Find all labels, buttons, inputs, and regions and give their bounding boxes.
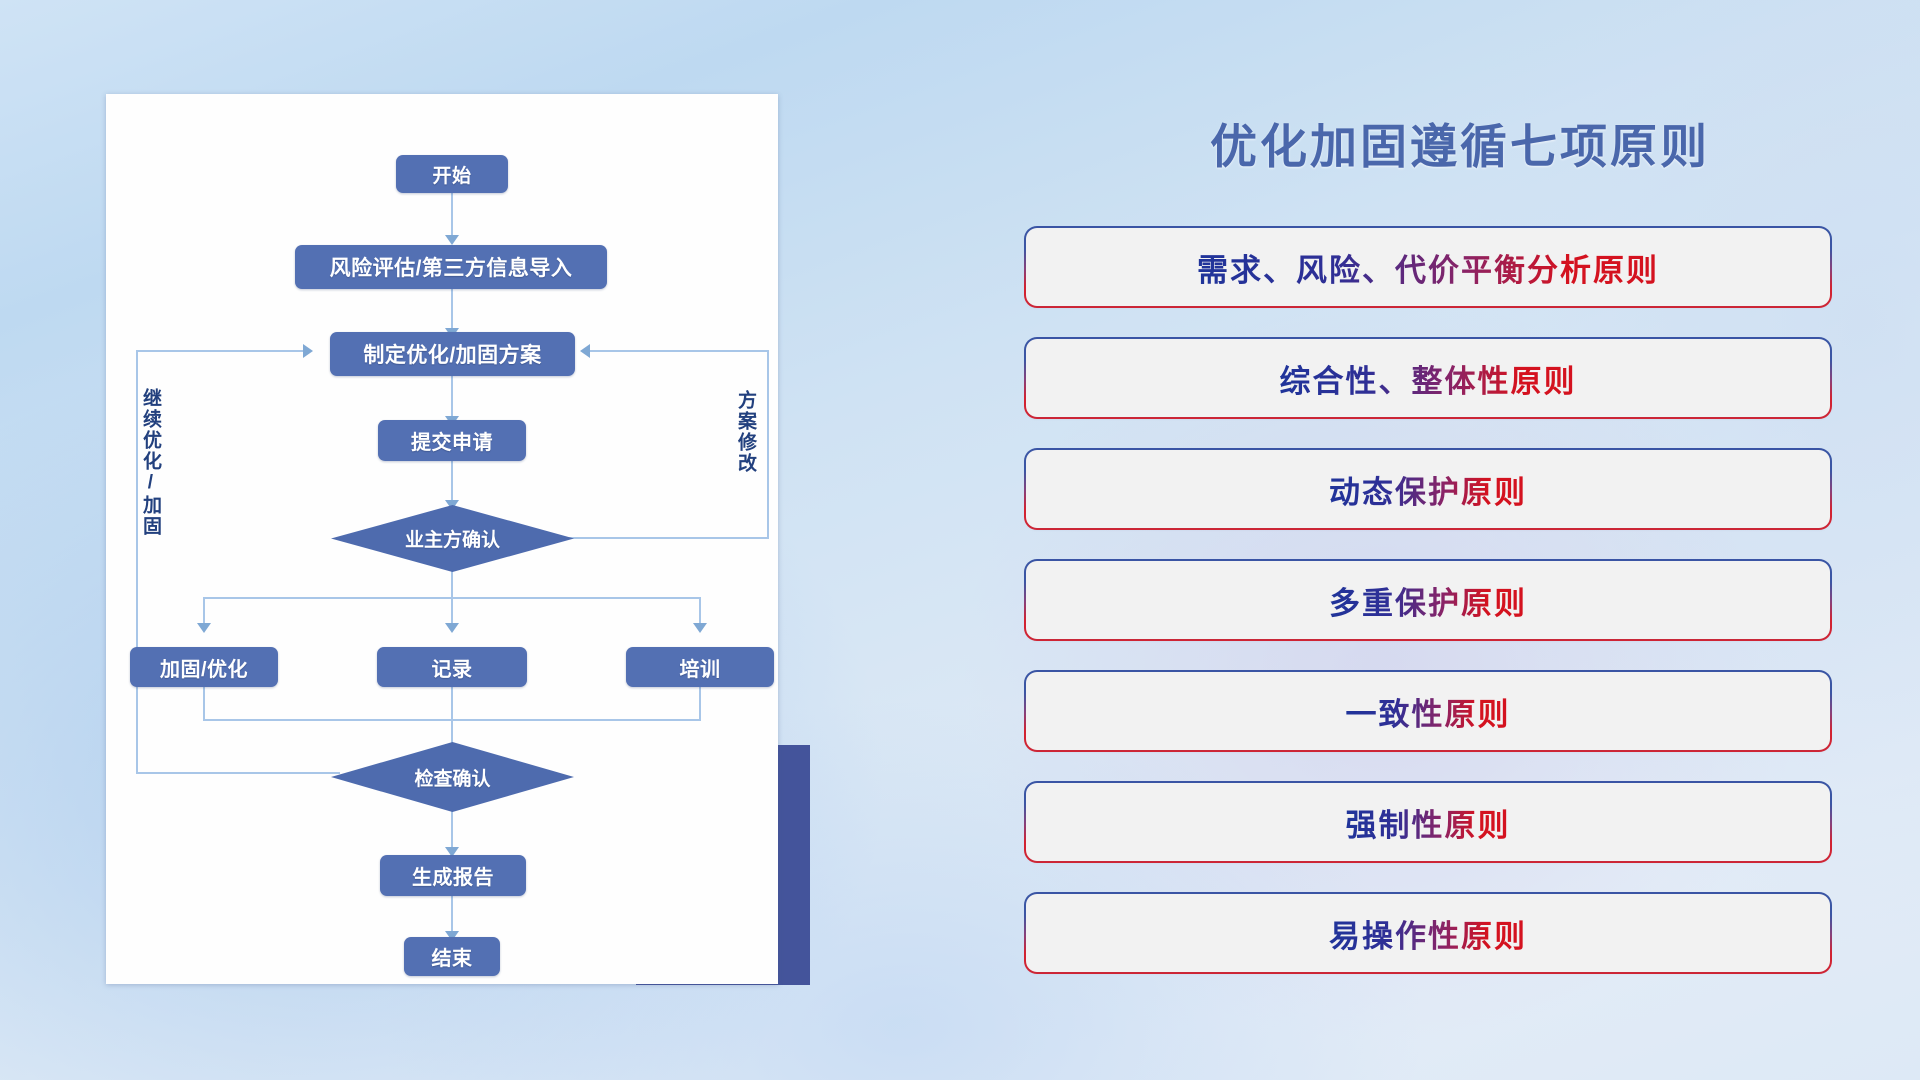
- connector-risk-plan: [451, 288, 453, 333]
- arrow-to-training: [693, 623, 707, 633]
- arrow-start-risk: [445, 235, 459, 245]
- arrow-right-into-plan: [580, 344, 590, 358]
- connector-left-to-plan: [136, 350, 307, 352]
- principle-label: 需求、风险、代价平衡分析原则: [1197, 245, 1659, 290]
- connector-submit-owner: [451, 460, 453, 505]
- flow-node-record[interactable]: 记录: [377, 647, 527, 687]
- principle-label: 强制性原则: [1346, 800, 1511, 845]
- flowchart-panel: 开始 风险评估/第三方信息导入 制定优化/加固方案 提交申请 业主方确认 加固/…: [0, 0, 1000, 1080]
- connector-start-risk: [451, 192, 453, 240]
- connector-owner-right: [560, 537, 769, 539]
- flow-node-reinforce[interactable]: 加固/优化: [130, 647, 278, 687]
- connector-right-to-plan: [589, 350, 769, 352]
- flow-node-risk-assessment[interactable]: 风险评估/第三方信息导入: [295, 245, 607, 289]
- principle-label: 多重保护原则: [1329, 578, 1527, 623]
- connector-record-down: [451, 686, 453, 720]
- principle-card[interactable]: 一致性原则: [1026, 672, 1830, 750]
- principle-card[interactable]: 需求、风险、代价平衡分析原则: [1026, 228, 1830, 306]
- connector-training-down: [699, 686, 701, 720]
- principles-list: 需求、风险、代价平衡分析原则 综合性、整体性原则 动态保护原则 多重保护原则 一…: [1026, 228, 1830, 1005]
- principles-panel: 优化加固遵循七项原则 需求、风险、代价平衡分析原则 综合性、整体性原则 动态保护…: [1000, 0, 1920, 1080]
- principle-card[interactable]: 多重保护原则: [1026, 561, 1830, 639]
- flow-node-plan[interactable]: 制定优化/加固方案: [330, 332, 575, 376]
- arrow-to-reinforce: [197, 623, 211, 633]
- principle-card[interactable]: 易操作性原则: [1026, 894, 1830, 972]
- flow-node-submit[interactable]: 提交申请: [378, 420, 526, 461]
- edge-label-continue-optimize: 继续优化/加固: [140, 388, 160, 537]
- connector-plan-submit: [451, 376, 453, 421]
- principle-card[interactable]: 综合性、整体性原则: [1026, 339, 1830, 417]
- connector-report-end: [451, 896, 453, 936]
- flow-node-start[interactable]: 开始: [396, 155, 508, 193]
- flow-node-report[interactable]: 生成报告: [380, 855, 526, 896]
- principle-label: 一致性原则: [1346, 689, 1511, 734]
- principle-label: 易操作性原则: [1329, 911, 1527, 956]
- principle-card[interactable]: 动态保护原则: [1026, 450, 1830, 528]
- arrow-left-into-plan: [303, 344, 313, 358]
- principle-label: 综合性、整体性原则: [1280, 356, 1577, 401]
- connector-right-vertical: [767, 351, 769, 539]
- connector-left-vertical: [136, 350, 138, 774]
- edge-label-plan-revision: 方案修改: [735, 390, 755, 474]
- connector-check-report: [451, 810, 453, 852]
- arrow-to-record: [445, 623, 459, 633]
- connector-reinforce-down: [203, 686, 205, 720]
- flow-node-training[interactable]: 培训: [626, 647, 774, 687]
- principles-title: 优化加固遵循七项原则: [1000, 108, 1920, 177]
- connector-owner-down: [451, 570, 453, 598]
- flow-node-end[interactable]: 结束: [404, 937, 500, 976]
- principle-label: 动态保护原则: [1329, 467, 1527, 512]
- principle-card[interactable]: 强制性原则: [1026, 783, 1830, 861]
- connector-check-to-left: [136, 772, 340, 774]
